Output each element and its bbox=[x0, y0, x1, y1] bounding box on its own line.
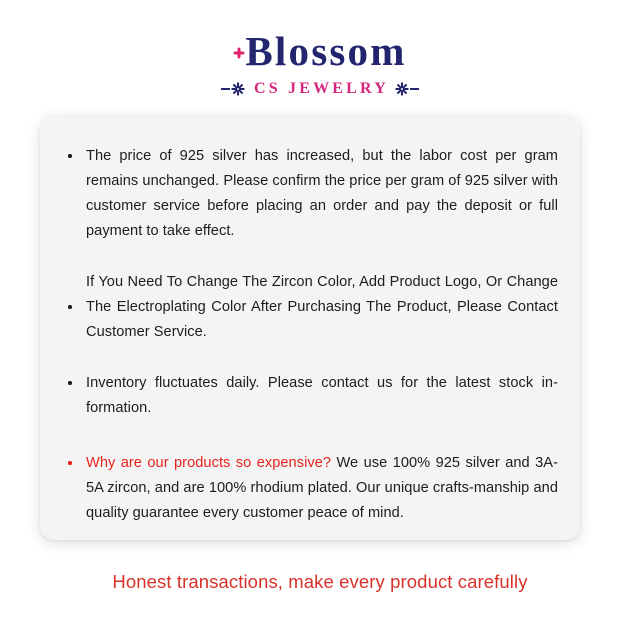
footer-slogan: Honest transactions, make every product … bbox=[0, 569, 640, 595]
bullet-icon bbox=[68, 154, 72, 158]
notice-text: The price of 925 silver has increased, b… bbox=[86, 148, 558, 239]
notice-item-pricing-explanation: Why are our products so expensive? We us… bbox=[62, 451, 558, 526]
brand-title-row: Blossom bbox=[0, 30, 640, 72]
brand-subtitle-row: CS JEWELRY bbox=[0, 79, 640, 99]
notice-card: The price of 925 silver has increased, b… bbox=[40, 116, 580, 540]
flourish-dash-right bbox=[410, 88, 419, 90]
bullet-icon bbox=[68, 381, 72, 385]
notice-text: Inventory fluctuates daily. Please conta… bbox=[86, 375, 558, 416]
flourish-left-icon bbox=[221, 81, 246, 97]
notice-item-price-increase: The price of 925 silver has increased, b… bbox=[62, 144, 558, 244]
notice-text: If You Need To Change The Zircon Color, … bbox=[86, 274, 558, 340]
sparkle-icon bbox=[233, 48, 244, 59]
notice-item-customization: If You Need To Change The Zircon Color, … bbox=[62, 270, 558, 345]
notice-lead-question: Why are our products so expensive? bbox=[86, 455, 331, 471]
bullet-icon bbox=[68, 305, 72, 309]
snowflake-left-icon bbox=[231, 82, 245, 96]
snowflake-right-icon bbox=[395, 82, 409, 96]
bullet-icon bbox=[68, 461, 72, 465]
brand-header: Blossom CS JEWELRY bbox=[0, 0, 640, 99]
notice-list: The price of 925 silver has increased, b… bbox=[62, 144, 558, 526]
brand-title: Blossom bbox=[245, 30, 406, 72]
flourish-right-icon bbox=[394, 81, 419, 97]
brand-subtitle: CS JEWELRY bbox=[251, 79, 389, 99]
flourish-dash-left bbox=[221, 88, 230, 90]
notice-item-inventory: Inventory fluctuates daily. Please conta… bbox=[62, 371, 558, 421]
